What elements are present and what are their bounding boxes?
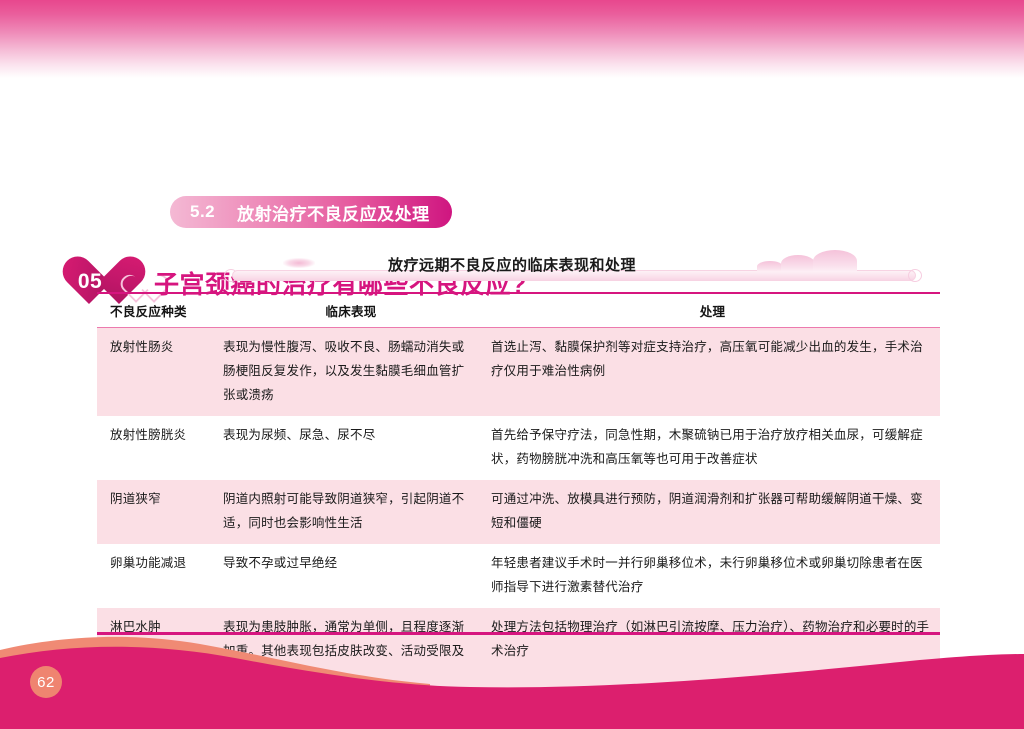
cell-management: 首先给予保守疗法，同急性期，木聚硫钠已用于治疗放疗相关血尿，可缓解症状，药物膀胱… [489, 416, 940, 480]
column-header-type: 不良反应种类 [97, 293, 217, 328]
cell-type: 放射性肠炎 [97, 328, 217, 417]
magenta-wave-shape [0, 647, 1024, 729]
section-badge: 5.2 放射治疗不良反应及处理 [170, 196, 452, 228]
top-gradient-banner [0, 0, 1024, 78]
section-number: 5.2 [190, 202, 215, 222]
cell-symptoms: 阴道内照射可能导致阴道狭窄，引起阴道不适，同时也会影响性生活 [217, 480, 489, 544]
chapter-heading: 05 子宫颈癌的治疗有哪些不良反应? [0, 126, 1024, 188]
table-header: 不良反应种类 临床表现 处理 [97, 293, 940, 328]
table-row: 卵巢功能减退 导致不孕或过早绝经 年轻患者建议手术时一并行卵巢移位术，未行卵巢移… [97, 544, 940, 608]
cell-management: 年轻患者建议手术时一并行卵巢移位术，未行卵巢移位术或卵巢切除患者在医师指导下进行… [489, 544, 940, 608]
cell-type: 阴道狭窄 [97, 480, 217, 544]
section-label: 放射治疗不良反应及处理 [237, 200, 430, 225]
column-header-management: 处理 [489, 293, 940, 328]
cell-symptoms: 表现为慢性腹泻、吸收不良、肠蠕动消失或肠梗阻反复发作，以及发生黏膜毛细血管扩张或… [217, 328, 489, 417]
table-title: 放疗远期不良反应的临床表现和处理 [0, 254, 1024, 275]
footer-wave-decoration [0, 614, 1024, 729]
cell-type: 放射性膀胱炎 [97, 416, 217, 480]
table-row: 阴道狭窄 阴道内照射可能导致阴道狭窄，引起阴道不适，同时也会影响性生活 可通过冲… [97, 480, 940, 544]
table-row: 放射性肠炎 表现为慢性腹泻、吸收不良、肠蠕动消失或肠梗阻反复发作，以及发生黏膜毛… [97, 328, 940, 417]
wave-svg [0, 614, 1024, 729]
cell-symptoms: 导致不孕或过早绝经 [217, 544, 489, 608]
chapter-number: 05 [62, 270, 118, 294]
table-row: 放射性膀胱炎 表现为尿频、尿急、尿不尽 首先给予保守疗法，同急性期，木聚硫钠已用… [97, 416, 940, 480]
cell-symptoms: 表现为尿频、尿急、尿不尽 [217, 416, 489, 480]
cell-type: 卵巢功能减退 [97, 544, 217, 608]
column-header-symptoms: 临床表现 [217, 293, 489, 328]
cell-management: 首选止泻、黏膜保护剂等对症支持治疗，高压氧可能减少出血的发生，手术治疗仅用于难治… [489, 328, 940, 417]
table-header-row: 不良反应种类 临床表现 处理 [97, 293, 940, 328]
cell-management: 可通过冲洗、放模具进行预防，阴道润滑剂和扩张器可帮助缓解阴道干燥、变短和僵硬 [489, 480, 940, 544]
page-number-badge: 62 [30, 666, 62, 698]
